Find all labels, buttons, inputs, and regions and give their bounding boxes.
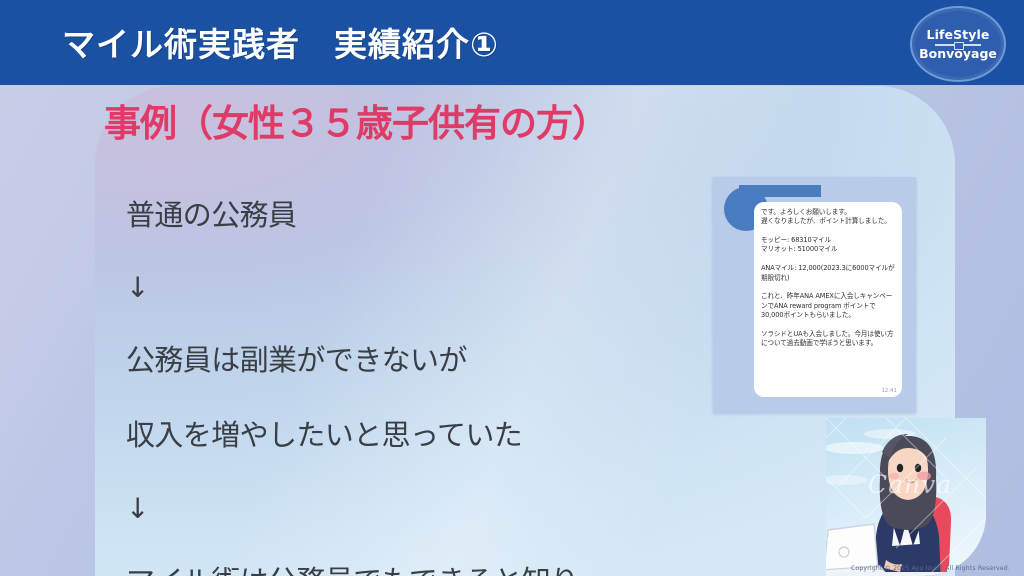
copyright-notice: Copyright © 2025 Ayu Izumi All Rights Re… xyxy=(851,565,1010,572)
story-arrow-2-icon: ↓ xyxy=(126,493,726,525)
woman-at-laptop-illustration: Canva xyxy=(826,418,986,576)
chat-timestamp: 12:41 xyxy=(881,388,897,394)
story-arrow-1-icon: ↓ xyxy=(126,272,726,304)
story-steps: 普通の公務員 ↓ 公務員は副業ができないが 収入を増やしたいと思っていた ↓ マ… xyxy=(126,159,726,576)
chat-screenshot: です。よろしくお願いします。 遅くなりましたが、ポイント計算しました。 モッピー… xyxy=(713,177,916,413)
logo-divider-icon xyxy=(935,44,981,46)
story-line-3: 収入を増やしたいと思っていた xyxy=(126,417,726,455)
illustration-svg xyxy=(826,418,986,576)
story-line-2: 公務員は副業ができないが xyxy=(126,342,726,380)
logo-top-text: LifeStyle xyxy=(927,28,990,41)
story-line-1: 普通の公務員 xyxy=(126,197,726,235)
case-heading: 事例（女性３５歳子供有の方） xyxy=(104,105,608,142)
chat-message-bubble: です。よろしくお願いします。 遅くなりましたが、ポイント計算しました。 モッピー… xyxy=(754,202,902,397)
page-title: マイル術実践者 実績紹介① xyxy=(62,18,499,66)
header-bar: マイル術実践者 実績紹介① LifeStyle Bonvoyage xyxy=(0,0,1024,85)
chat-message-text: です。よろしくお願いします。 遅くなりましたが、ポイント計算しました。 モッピー… xyxy=(761,208,895,348)
brand-logo: LifeStyle Bonvoyage xyxy=(910,6,1006,82)
story-line-4: マイル術は公務員でもできると知り xyxy=(126,563,726,576)
slide-root: マイル術実践者 実績紹介① LifeStyle Bonvoyage 事例（女性３… xyxy=(0,0,1024,576)
